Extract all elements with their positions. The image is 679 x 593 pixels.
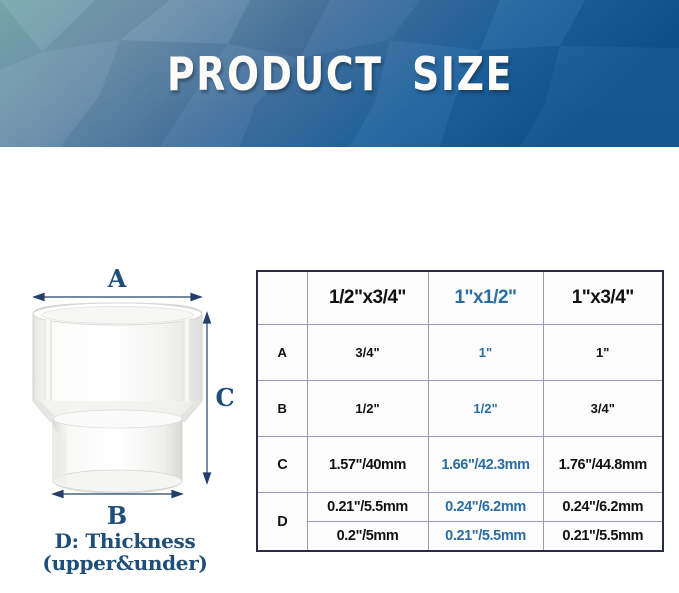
table-header-col-2: 1"x3/4" — [543, 271, 663, 325]
cell-d-upper-1: 0.24"/6.2mm — [428, 493, 543, 522]
dimension-label-b: B — [107, 501, 127, 530]
cell-a-2: 1" — [543, 325, 663, 381]
cell-d-under-2: 0.21"/5.5mm — [543, 522, 663, 552]
cell-c-0: 1.57"/40mm — [307, 437, 428, 493]
row-label-c: C — [257, 437, 307, 493]
dimension-label-c: C — [215, 383, 234, 412]
cell-c-2: 1.76"/44.8mm — [543, 437, 663, 493]
cell-d-under-1: 0.21"/5.5mm — [428, 522, 543, 552]
fitting-lower-body — [53, 410, 182, 493]
size-table: 1/2"x3/4" 1"x1/2" 1"x3/4" A 3/4" 1" 1" B… — [256, 270, 664, 552]
row-label-b: B — [257, 381, 307, 437]
dimension-a — [34, 294, 201, 301]
table-row: C 1.57"/40mm 1.66"/42.3mm 1.76"/44.8mm — [257, 437, 663, 493]
cell-d-upper-0: 0.21"/5.5mm — [307, 493, 428, 522]
banner-polygon-background — [0, 0, 679, 147]
table-row: D 0.21"/5.5mm 0.24"/6.2mm 0.24"/6.2mm — [257, 493, 663, 522]
cell-b-1: 1/2" — [428, 381, 543, 437]
table-row: B 1/2" 1/2" 3/4" — [257, 381, 663, 437]
cell-a-0: 3/4" — [307, 325, 428, 381]
row-label-a: A — [257, 325, 307, 381]
table-corner-cell — [257, 271, 307, 325]
dimension-c — [204, 313, 211, 483]
table-row: A 3/4" 1" 1" — [257, 325, 663, 381]
fitting-upper-body — [33, 303, 202, 421]
cell-d-upper-2: 0.24"/6.2mm — [543, 493, 663, 522]
thickness-caption: D: Thickness (upper&under) — [0, 530, 250, 575]
cell-a-1: 1" — [428, 325, 543, 381]
dimension-label-a: A — [107, 264, 127, 293]
cell-d-under-0: 0.2"/5mm — [307, 522, 428, 552]
row-label-d: D — [257, 493, 307, 552]
table-header-col-1: 1"x1/2" — [428, 271, 543, 325]
product-diagram-svg: A B C — [0, 147, 250, 593]
cell-b-2: 3/4" — [543, 381, 663, 437]
cell-c-1: 1.66"/42.3mm — [428, 437, 543, 493]
table-row: 0.2"/5mm 0.21"/5.5mm 0.21"/5.5mm — [257, 522, 663, 552]
header-banner: PRODUCT SIZE — [0, 0, 679, 147]
table-header-row: 1/2"x3/4" 1"x1/2" 1"x3/4" — [257, 271, 663, 325]
table-header-col-0: 1/2"x3/4" — [307, 271, 428, 325]
thickness-caption-line1: D: Thickness — [0, 530, 250, 552]
cell-b-0: 1/2" — [307, 381, 428, 437]
product-diagram: A B C — [0, 147, 250, 593]
thickness-caption-line2: (upper&under) — [0, 552, 250, 574]
